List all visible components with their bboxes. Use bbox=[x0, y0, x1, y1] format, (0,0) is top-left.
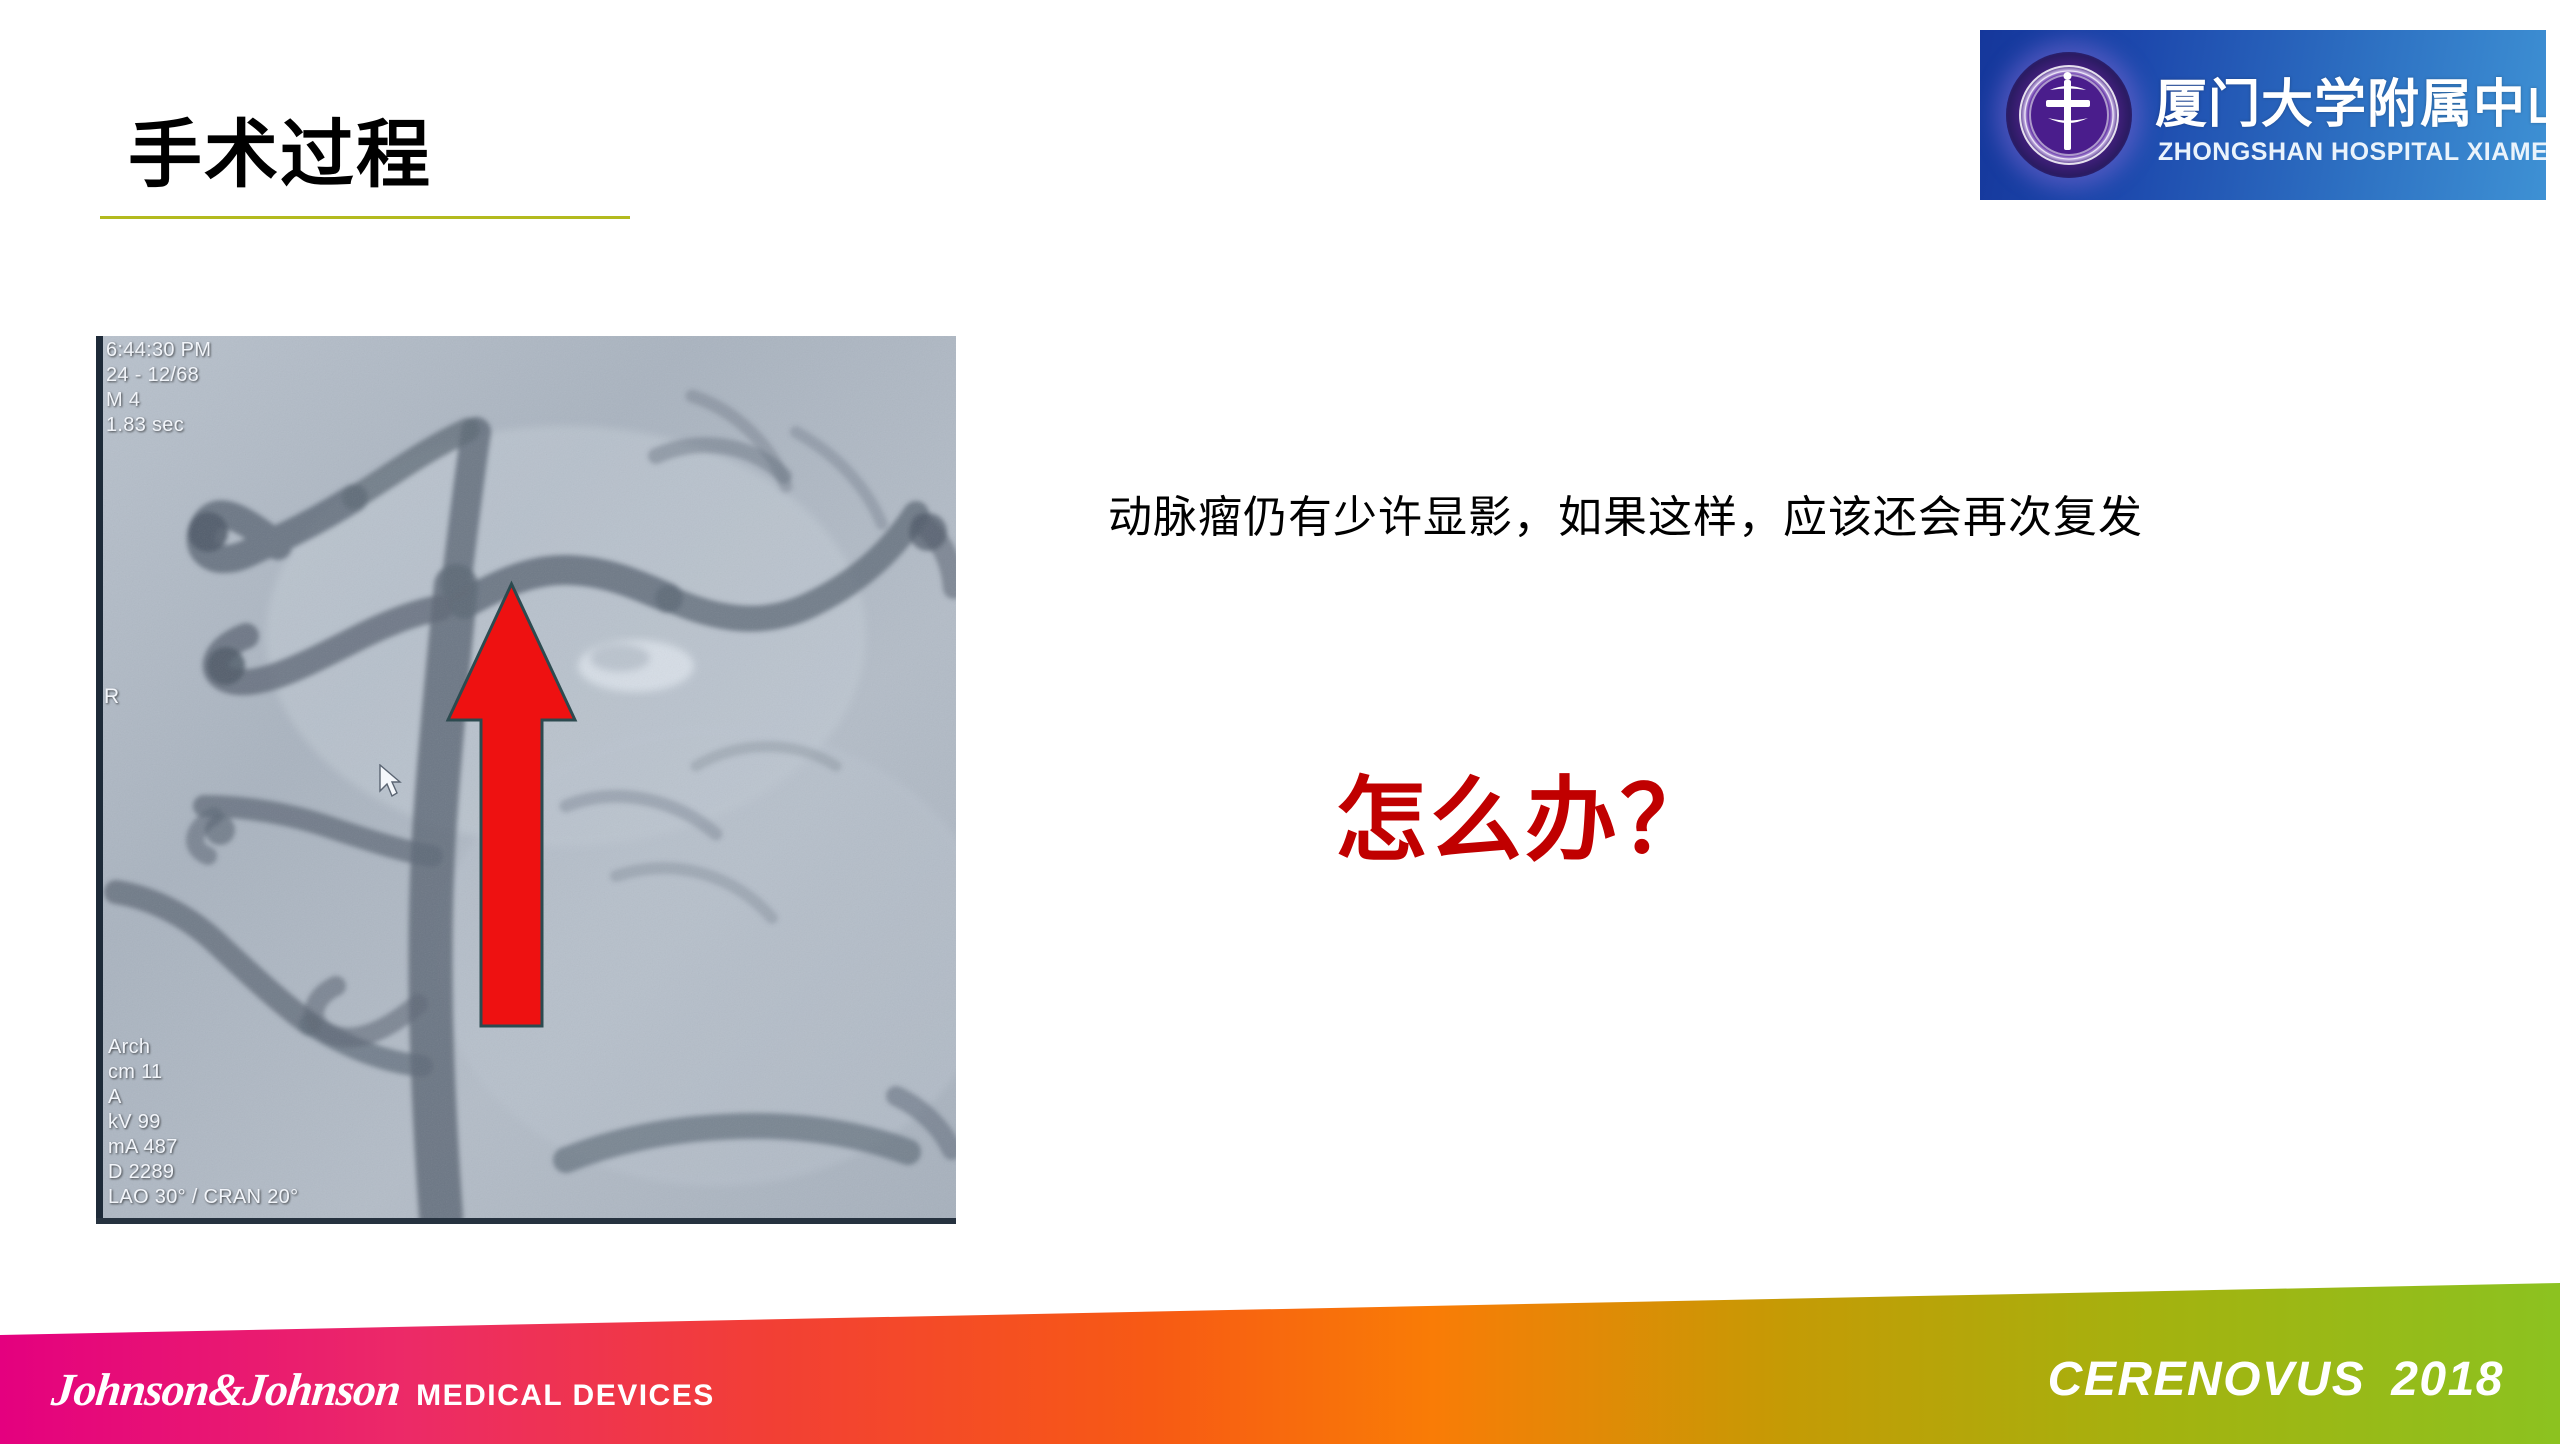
body-text: 动脉瘤仍有少许显影，如果这样，应该还会再次复发 bbox=[1108, 481, 2143, 545]
angiogram-left-border bbox=[96, 336, 103, 1224]
hospital-seal-glyph bbox=[2006, 52, 2132, 178]
page-title: 手术过程 bbox=[128, 118, 432, 192]
mouse-pointer-cursor-icon bbox=[377, 764, 403, 798]
angiogram-image: 6:44:30 PM 24 - 12/68 M 4 1.83 sec R Arc… bbox=[96, 336, 956, 1224]
footer-brand-label: CERENOVUS2018 bbox=[2048, 1352, 2504, 1407]
up-arrow-annotation-icon bbox=[444, 580, 579, 1030]
angiogram-overlay-bottom: Arch cm 11 A kV 99 mA 487 D 2289 LAO 30°… bbox=[108, 1035, 298, 1210]
angiogram-side-marker: R bbox=[104, 684, 119, 709]
angiogram-overlay-top: 6:44:30 PM 24 - 12/68 M 4 1.83 sec bbox=[106, 338, 211, 438]
hospital-name-en: ZHONGSHAN HOSPITAL XIAMEN UNIVERSITY bbox=[2158, 138, 2546, 167]
jnj-wordmark: Johnson&Johnson bbox=[50, 1367, 403, 1413]
angiogram-bottom-border bbox=[96, 1218, 956, 1224]
brand-year: 2018 bbox=[2391, 1353, 2504, 1406]
question-callout-text: 怎么办？ bbox=[1335, 746, 1715, 879]
hospital-logo: 厦门大学附属中山医院 ZHONGSHAN HOSPITAL XIAMEN UNI… bbox=[1980, 30, 2546, 200]
hospital-seal-icon bbox=[2006, 52, 2132, 178]
brand-name: CERENOVUS bbox=[2048, 1353, 2366, 1406]
hospital-name-cn: 厦门大学附属中山医院 bbox=[2155, 62, 2546, 137]
jnj-division-label: MEDICAL DEVICES bbox=[416, 1381, 715, 1411]
title-underline-divider bbox=[100, 216, 630, 219]
johnson-and-johnson-logo: Johnson&Johnson MEDICAL DEVICES bbox=[52, 1367, 715, 1413]
